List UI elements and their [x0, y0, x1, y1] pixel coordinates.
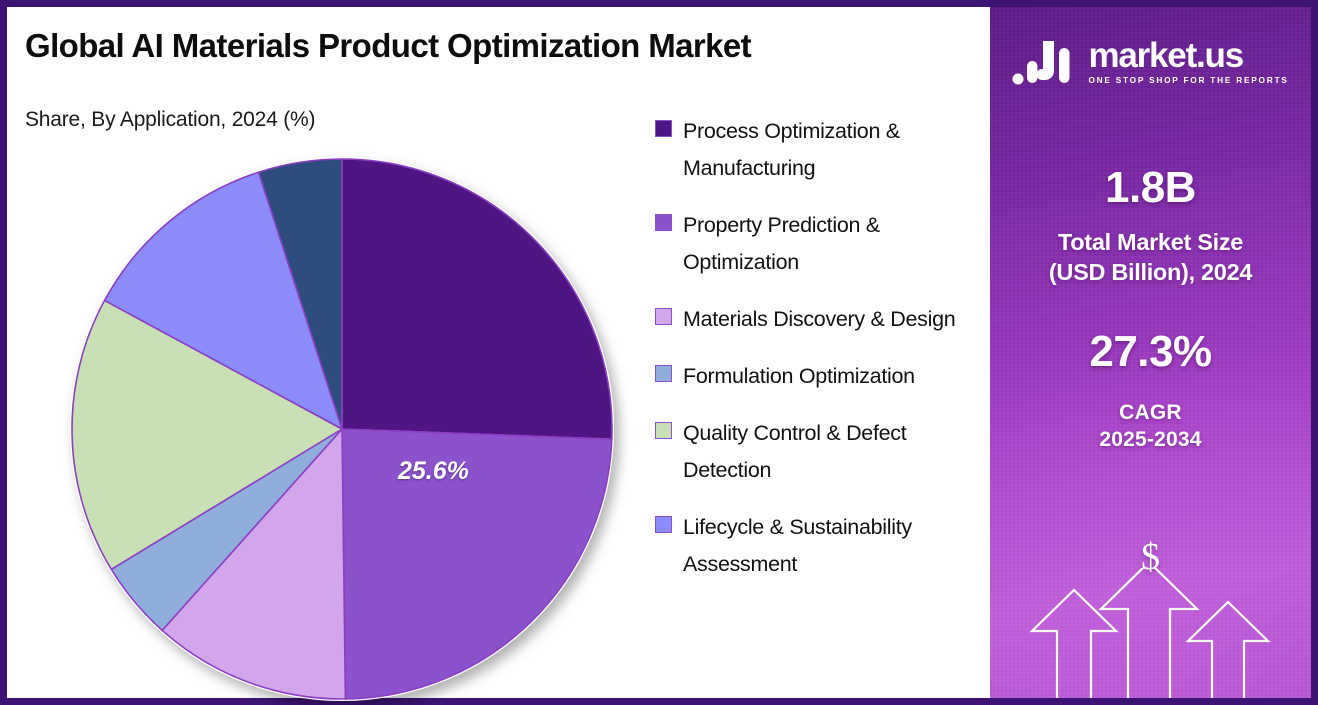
page-subtitle: Share, By Application, 2024 (%) [25, 108, 315, 132]
logo-text-block: market.us ONE STOP SHOP FOR THE REPORTS [1088, 38, 1288, 85]
cagr-value: 27.3% [990, 327, 1311, 377]
infographic-root: Global AI Materials Product Optimization… [0, 0, 1318, 705]
pie-slices [72, 159, 612, 699]
legend-item-label: Quality Control & Defect Detection [683, 415, 975, 489]
legend-swatch-icon [655, 308, 672, 325]
legend: Process Optimization & Manufacturing Pro… [655, 113, 975, 603]
brand-logo[interactable]: market.us ONE STOP SHOP FOR THE REPORTS [990, 35, 1311, 87]
market-size-label-line2: (USD Billion), 2024 [990, 257, 1311, 287]
legend-item[interactable]: Lifecycle & Sustainability Assessment [655, 509, 975, 583]
growth-arrows-icon [1016, 568, 1286, 698]
logo-tagline: ONE STOP SHOP FOR THE REPORTS [1088, 75, 1288, 85]
legend-swatch-icon [655, 120, 672, 137]
logo-wordmark: market.us [1088, 38, 1288, 74]
legend-item[interactable]: Materials Discovery & Design [655, 301, 975, 338]
page-title: Global AI Materials Product Optimization… [25, 27, 751, 65]
pie-chart-svg [68, 155, 616, 703]
chart-panel: Global AI Materials Product Optimization… [0, 0, 990, 705]
pie-slice[interactable] [342, 429, 612, 699]
cagr-label: CAGR 2025-2034 [990, 399, 1311, 453]
legend-item[interactable]: Formulation Optimization [655, 358, 975, 395]
market-size-label-line1: Total Market Size [990, 227, 1311, 257]
cagr-label-line1: CAGR [990, 399, 1311, 426]
legend-item[interactable]: Process Optimization & Manufacturing [655, 113, 975, 187]
legend-swatch-icon [655, 516, 672, 533]
legend-item-label: Property Prediction & Optimization [683, 207, 975, 281]
legend-item[interactable]: Quality Control & Defect Detection [655, 415, 975, 489]
legend-swatch-icon [655, 214, 672, 231]
bar-chart-logo-icon [1012, 35, 1076, 87]
legend-swatch-icon [655, 365, 672, 382]
market-size-label: Total Market Size (USD Billion), 2024 [990, 227, 1311, 287]
cagr-label-line2: 2025-2034 [990, 426, 1311, 453]
legend-item-label: Formulation Optimization [683, 358, 915, 395]
stats-panel: market.us ONE STOP SHOP FOR THE REPORTS … [990, 0, 1318, 705]
legend-item[interactable]: Property Prediction & Optimization [655, 207, 975, 281]
pie-chart: 25.6% [68, 155, 616, 703]
legend-item-label: Materials Discovery & Design [683, 301, 955, 338]
legend-item-label: Lifecycle & Sustainability Assessment [683, 509, 975, 583]
market-size-value: 1.8B [990, 163, 1311, 213]
pie-slice[interactable] [342, 159, 612, 439]
legend-swatch-icon [655, 422, 672, 439]
pie-highlight-label: 25.6% [398, 457, 469, 486]
legend-item-label: Process Optimization & Manufacturing [683, 113, 975, 187]
